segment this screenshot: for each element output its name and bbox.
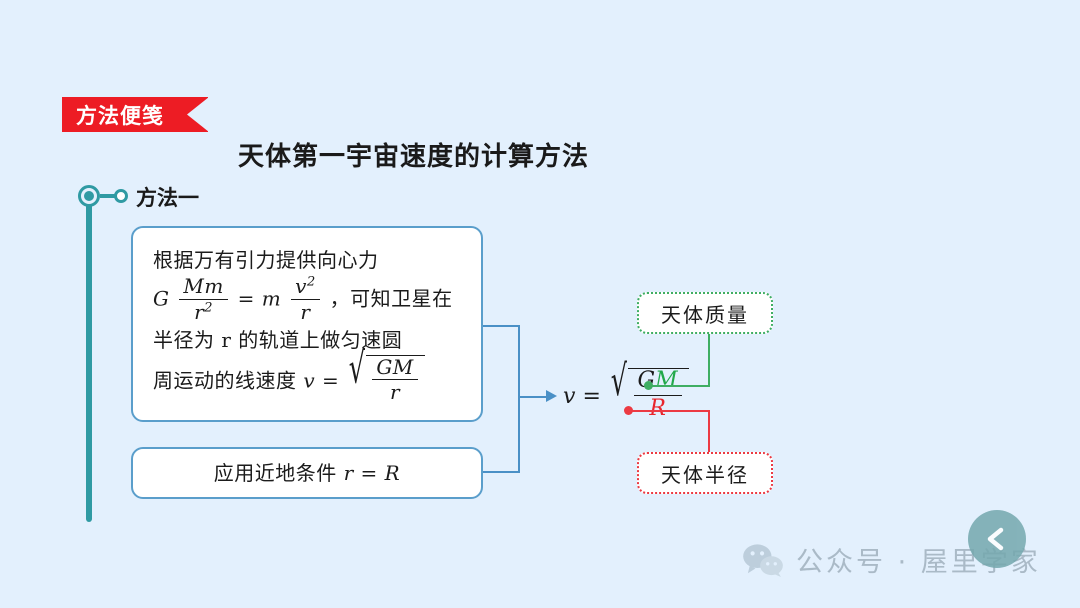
banner-label: 方法便笺: [76, 100, 164, 130]
equals-sign: =: [322, 368, 339, 392]
fraction-denominator: R: [645, 396, 670, 422]
timeline-subnode-icon: [114, 189, 128, 203]
fraction-GM-R: GM R: [634, 369, 682, 421]
back-button[interactable]: [968, 510, 1026, 568]
fraction-v2-r: v2 r: [291, 275, 320, 323]
callout-mass: 天体质量: [637, 292, 773, 334]
result-formula: v = √ GM R: [563, 370, 689, 424]
fraction-denominator: r: [296, 300, 314, 323]
fraction-numerator: GM: [372, 356, 417, 380]
equals-sign: =: [238, 287, 255, 311]
condition-text: 应用近地条件 r = R: [214, 457, 400, 489]
fraction-denominator: r: [386, 380, 404, 403]
velocity-var: v: [303, 368, 315, 392]
page-title: 天体第一宇宙速度的计算方法: [238, 136, 589, 173]
fraction-numerator: Mm: [179, 275, 227, 299]
gravity-constant: G: [153, 287, 169, 311]
premise-line-2-tail: 可知卫星在: [350, 287, 453, 311]
timeline-stem: [86, 198, 92, 522]
chevron-left-icon: [983, 525, 1011, 553]
arrow-right-icon: [546, 390, 557, 402]
red-leader-vertical: [708, 410, 710, 453]
radical-sign-icon: √: [349, 348, 366, 410]
premise-line-2: G Mm r2 = m v2 r ，可知卫星在: [153, 276, 461, 324]
premise-text: 根据万有引力提供向心力 G Mm r2 = m v2 r ，可知卫星在 半径为 …: [153, 244, 461, 406]
mass-M: M: [655, 368, 678, 393]
condition-box: 应用近地条件 r = R: [131, 447, 483, 499]
premise-line-1: 根据万有引力提供向心力: [153, 244, 461, 276]
callout-radius: 天体半径: [637, 452, 773, 494]
banner-notch: [187, 97, 209, 132]
callout-mass-label: 天体质量: [661, 299, 749, 328]
premise-line-3: 半径为 r 的轨道上做匀速圆: [153, 324, 461, 356]
radius-r: r: [344, 461, 354, 485]
wechat-icon: [742, 543, 784, 577]
fraction-mm-r2: Mm r2: [179, 275, 227, 323]
premise-line-4: 周运动的线速度 v = √ GM r: [153, 357, 461, 407]
result-var: v: [563, 384, 575, 409]
radius-R: R: [385, 461, 401, 485]
fraction-denominator: r2: [190, 300, 217, 323]
premise-box: 根据万有引力提供向心力 G Mm r2 = m v2 r ，可知卫星在 半径为 …: [131, 226, 483, 422]
section-banner: 方法便笺: [62, 97, 208, 132]
radical-sign-icon: √: [611, 361, 627, 429]
timeline-node-center-icon: [84, 191, 94, 201]
red-leader-horizontal: [628, 410, 710, 412]
premise-line-4-prefix: 周运动的线速度: [153, 368, 297, 392]
callout-radius-label: 天体半径: [661, 459, 749, 488]
sqrt-gm-over-R: √ GM R: [608, 368, 689, 422]
equals-sign: =: [582, 384, 600, 409]
radicand: GM R: [628, 368, 689, 422]
radicand: GM r: [366, 355, 424, 405]
sqrt-gm-over-r: √ GM r: [346, 355, 425, 405]
method-label: 方法一: [136, 182, 199, 212]
mass-m: m: [262, 287, 281, 311]
fraction-gm-r: GM r: [372, 356, 417, 404]
green-leader-horizontal: [648, 385, 710, 387]
equals-sign: =: [361, 461, 378, 485]
comma: ，: [330, 287, 351, 311]
fraction-numerator: GM: [634, 369, 682, 396]
condition-prefix: 应用近地条件: [214, 461, 337, 485]
green-leader-vertical: [708, 334, 710, 387]
slide-canvas: 方法便笺 天体第一宇宙速度的计算方法 方法一 根据万有引力提供向心力 G Mm …: [0, 0, 1080, 608]
fraction-numerator: v2: [291, 275, 320, 299]
bracket-connector: [483, 325, 520, 473]
